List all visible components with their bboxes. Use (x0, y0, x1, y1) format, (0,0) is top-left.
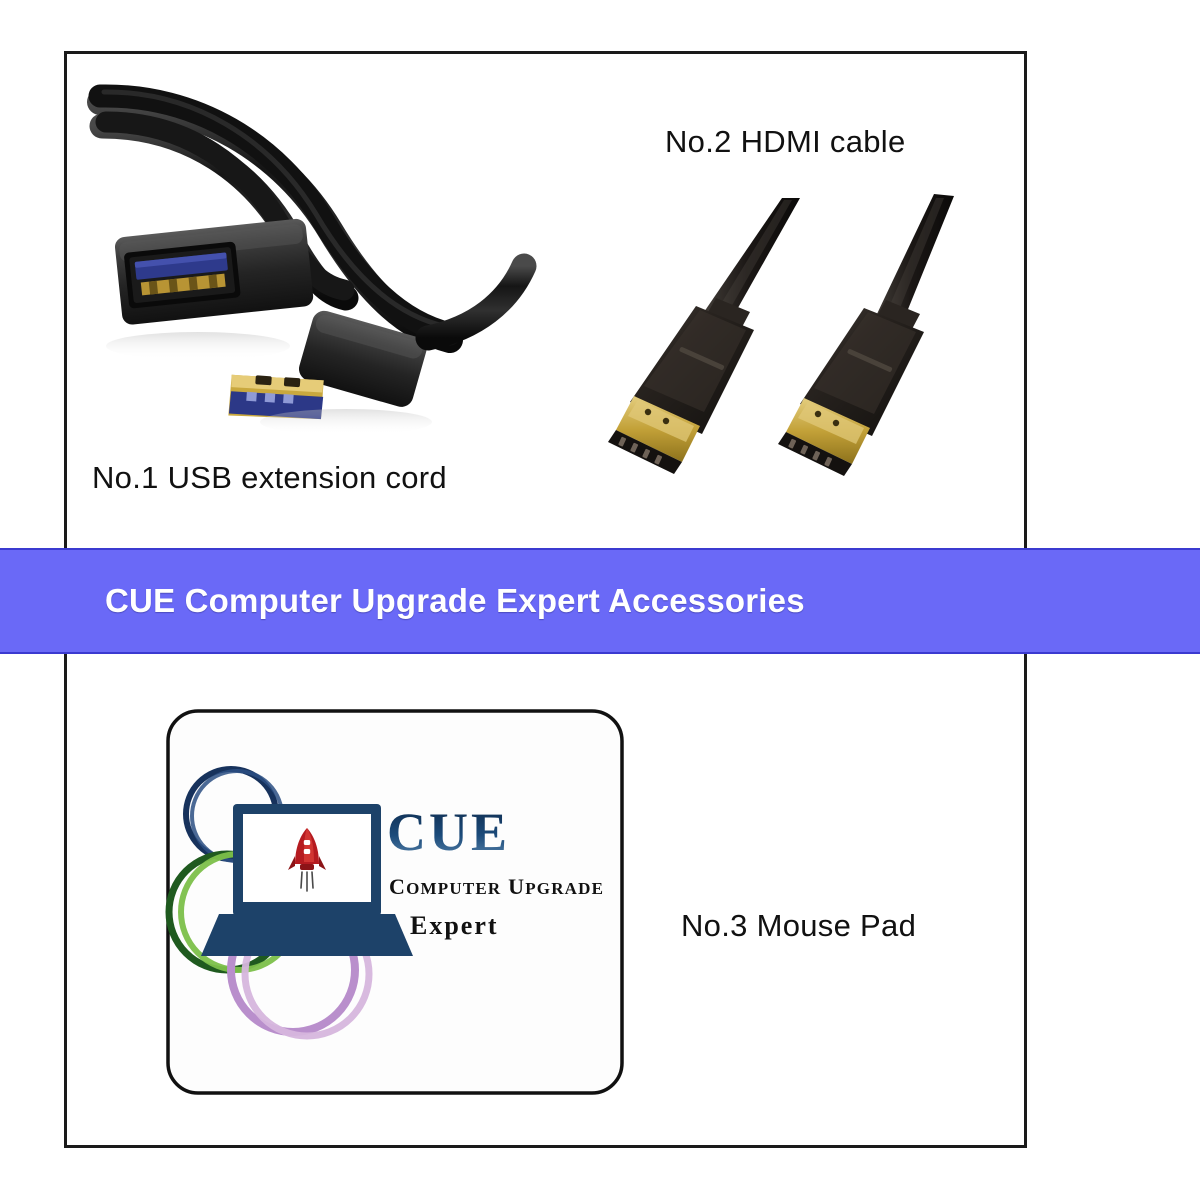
banner-title: CUE Computer Upgrade Expert Accessories (105, 582, 805, 620)
logo-tagline-line2: Expert (410, 911, 499, 940)
usb-extension-cord-image (78, 70, 538, 460)
usb-extension-cord-caption: No.1 USB extension cord (92, 460, 447, 496)
product-infographic: No.1 USB extension cord (0, 0, 1200, 1200)
logo-brand-text: CUE (387, 802, 510, 862)
hdmi-cable-caption: No.2 HDMI cable (665, 124, 906, 160)
mouse-pad-image: CUE COMPUTER UPGRADE Expert (165, 708, 625, 1096)
mouse-pad-caption: No.3 Mouse Pad (681, 908, 916, 944)
accessories-banner: CUE Computer Upgrade Expert Accessories (0, 548, 1200, 654)
hdmi-cable-image (596, 190, 1016, 490)
